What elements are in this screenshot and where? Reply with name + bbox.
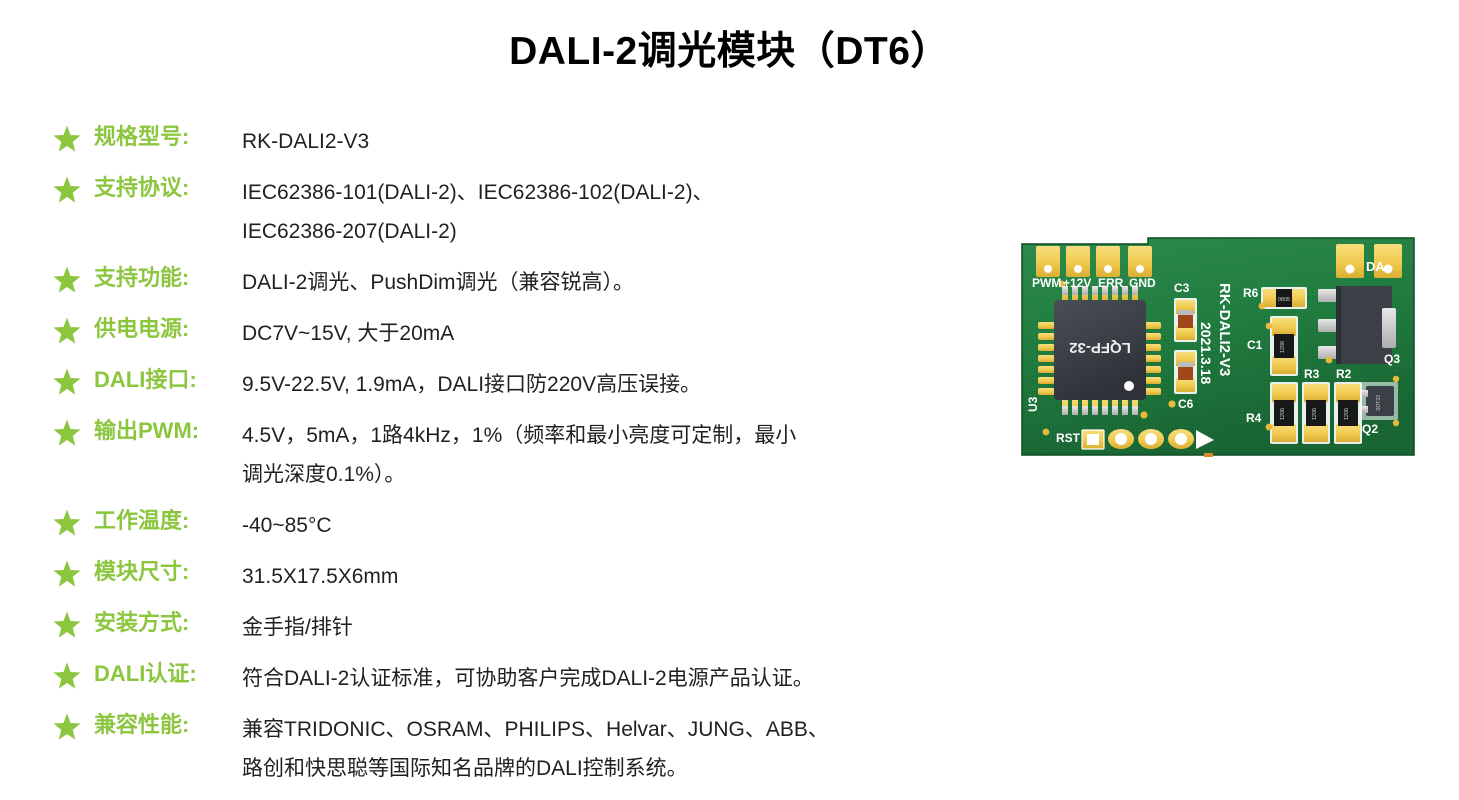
spec-value-line: IEC62386-101(DALI-2)、IEC62386-102(DALI-2… xyxy=(242,173,982,212)
spec-value-line: 金手指/排针 xyxy=(242,608,982,647)
star-icon xyxy=(52,265,82,295)
lqfp32-microcontroller: LQFP-32 xyxy=(1038,286,1161,415)
star-icon xyxy=(52,316,82,346)
spec-value: DALI-2调光、PushDim调光（兼容锐高）。 xyxy=(242,263,982,302)
spec-label: 输出PWM: xyxy=(94,416,242,446)
spec-value: 兼容TRIDONIC、OSRAM、PHILIPS、Helvar、JUNG、ABB… xyxy=(242,710,982,788)
spec-value: 31.5X17.5X6mm xyxy=(242,557,982,596)
spec-value-line: 符合DALI-2认证标准，可协助客户完成DALI-2电源产品认证。 xyxy=(242,659,982,698)
spec-value: -40~85°C xyxy=(242,506,982,545)
spec-value-line: 路创和快思聪等国际知名品牌的DALI控制系统。 xyxy=(242,749,982,788)
component-q3 xyxy=(1318,286,1396,364)
resistor-code-text: 1206 xyxy=(1280,408,1286,420)
component-r2: 1206 xyxy=(1334,382,1362,444)
star-icon xyxy=(52,610,82,640)
star-icon xyxy=(52,661,82,691)
spec-row-compatibility: 兼容性能: 兼容TRIDONIC、OSRAM、PHILIPS、Helvar、JU… xyxy=(52,710,982,788)
spec-row-pwm-output: 输出PWM: 4.5V，5mA，1路4kHz，1%（频率和最小亮度可定制，最小 … xyxy=(52,416,982,494)
star-icon xyxy=(52,559,82,589)
component-c1: 1206 xyxy=(1266,316,1298,376)
spec-value: IEC62386-101(DALI-2)、IEC62386-102(DALI-2… xyxy=(242,173,982,251)
spec-row-operating-temperature: 工作温度: -40~85°C xyxy=(52,506,982,545)
spec-label: 工作温度: xyxy=(94,506,242,536)
spec-row-power-supply: 供电电源: DC7V~15V, 大于20mA xyxy=(52,314,982,353)
resistor-code-text: 0805 xyxy=(1278,297,1290,303)
spec-value: 符合DALI-2认证标准，可协助客户完成DALI-2电源产品认证。 xyxy=(242,659,982,698)
spec-value: DC7V~15V, 大于20mA xyxy=(242,314,982,353)
spec-value: RK-DALI2-V3 xyxy=(242,122,982,161)
spec-row-protocols: 支持协议: IEC62386-101(DALI-2)、IEC62386-102(… xyxy=(52,173,982,251)
spec-label: 支持协议: xyxy=(94,173,242,203)
resistor-code-text: 1206 xyxy=(1312,408,1318,420)
spec-value-line: 4.5V，5mA，1路4kHz，1%（频率和最小亮度可定制，最小 xyxy=(242,416,982,455)
star-icon xyxy=(52,367,82,397)
component-r3: 1206 xyxy=(1302,382,1330,444)
star-icon xyxy=(52,418,82,448)
spec-row-dali-certification: DALI认证: 符合DALI-2认证标准，可协助客户完成DALI-2电源产品认证… xyxy=(52,659,982,698)
transistor-code-text: SOT23 xyxy=(1376,395,1382,411)
spec-row-mounting: 安装方式: 金手指/排针 xyxy=(52,608,982,647)
spec-value: 金手指/排针 xyxy=(242,608,982,647)
star-icon xyxy=(52,175,82,205)
spec-row-dali-interface: DALI接口: 9.5V-22.5V, 1.9mA，DALI接口防220V高压误… xyxy=(52,365,982,404)
resistor-code-text: 1206 xyxy=(1280,341,1286,353)
chip-marking-text: LQFP-32 xyxy=(1069,339,1131,356)
specification-list: 规格型号: RK-DALI2-V3 支持协议: IEC62386-101(DAL… xyxy=(52,122,982,800)
spec-row-functions: 支持功能: DALI-2调光、PushDim调光（兼容锐高）。 xyxy=(52,263,982,302)
spec-label: 安装方式: xyxy=(94,608,242,638)
star-icon xyxy=(52,712,82,742)
star-icon xyxy=(52,124,82,154)
component-r6: 0805 xyxy=(1259,287,1307,309)
spec-label: 规格型号: xyxy=(94,122,242,152)
star-icon xyxy=(52,508,82,538)
component-q2: SOT23 xyxy=(1360,376,1399,426)
spec-label: DALI接口: xyxy=(94,365,242,395)
component-r4: 1206 xyxy=(1266,382,1298,444)
spec-row-model: 规格型号: RK-DALI2-V3 xyxy=(52,122,982,161)
spec-row-module-dimensions: 模块尺寸: 31.5X17.5X6mm xyxy=(52,557,982,596)
spec-label: DALI认证: xyxy=(94,659,242,689)
spec-value-line: DC7V~15V, 大于20mA xyxy=(242,314,982,353)
spec-value-line: 31.5X17.5X6mm xyxy=(242,557,982,596)
spec-value-line: -40~85°C xyxy=(242,506,982,545)
spec-value-line: RK-DALI2-V3 xyxy=(242,122,982,161)
spec-label: 模块尺寸: xyxy=(94,557,242,587)
spec-value: 9.5V-22.5V, 1.9mA，DALI接口防220V高压误接。 xyxy=(242,365,982,404)
spec-label: 支持功能: xyxy=(94,263,242,293)
spec-value-line: 9.5V-22.5V, 1.9mA，DALI接口防220V高压误接。 xyxy=(242,365,982,404)
pcb-board-graphic: LQFP-32 0805 xyxy=(1018,234,1418,459)
pcb-product-image: LQFP-32 0805 xyxy=(1018,234,1418,459)
spec-label: 供电电源: xyxy=(94,314,242,344)
resistor-code-text: 1206 xyxy=(1344,408,1350,420)
spec-value-line: IEC62386-207(DALI-2) xyxy=(242,212,982,251)
spec-value-line: DALI-2调光、PushDim调光（兼容锐高）。 xyxy=(242,263,982,302)
spec-value: 4.5V，5mA，1路4kHz，1%（频率和最小亮度可定制，最小 调光深度0.1… xyxy=(242,416,982,494)
spec-value-line: 调光深度0.1%）。 xyxy=(242,455,982,494)
page-title: DALI-2调光模块（DT6） xyxy=(0,28,1459,77)
spec-label: 兼容性能: xyxy=(94,710,242,740)
spec-value-line: 兼容TRIDONIC、OSRAM、PHILIPS、Helvar、JUNG、ABB… xyxy=(242,710,982,749)
